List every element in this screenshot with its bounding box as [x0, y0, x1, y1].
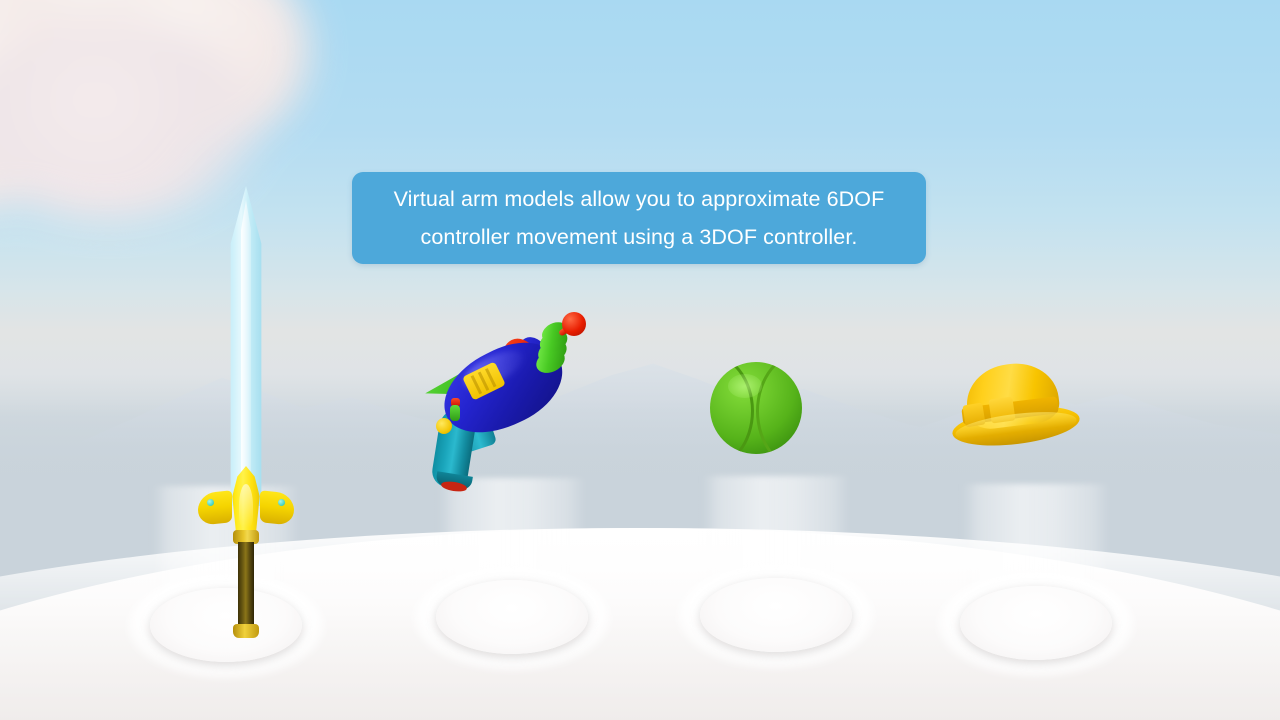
pedestal-4[interactable] [938, 556, 1134, 676]
tennis-ball-highlight [728, 374, 762, 398]
ray-gun-object[interactable] [418, 312, 588, 487]
hat-object[interactable] [952, 362, 1080, 448]
tennis-ball-seam-right [756, 362, 802, 454]
sword-guard-highlight [239, 484, 253, 528]
instruction-tooltip: Virtual arm models allow you to approxim… [352, 172, 926, 264]
sword-gem-right [278, 499, 285, 506]
sword-pommel [233, 624, 259, 638]
vr-scene: Virtual arm models allow you to approxim… [0, 0, 1280, 720]
pedestal-surface [700, 578, 852, 652]
sword-quillon-right [260, 490, 294, 526]
tennis-ball-object[interactable] [710, 362, 802, 454]
sword-blade-ridge [241, 200, 251, 500]
sword-gem-left [207, 499, 214, 506]
pedestal-surface [960, 586, 1112, 660]
ray-gun-knob [436, 418, 452, 434]
ray-gun-button-green [450, 405, 460, 421]
sword-quillon-left [198, 490, 232, 526]
sword-object[interactable] [186, 186, 306, 626]
pedestal-2[interactable] [414, 550, 610, 670]
sword-grip [238, 542, 254, 628]
pedestal-3[interactable] [678, 548, 874, 668]
ray-gun-tip-ball [562, 312, 586, 336]
sword-crossguard [204, 466, 288, 534]
pedestal-surface [436, 580, 588, 654]
instruction-tooltip-text: Virtual arm models allow you to approxim… [376, 180, 903, 256]
